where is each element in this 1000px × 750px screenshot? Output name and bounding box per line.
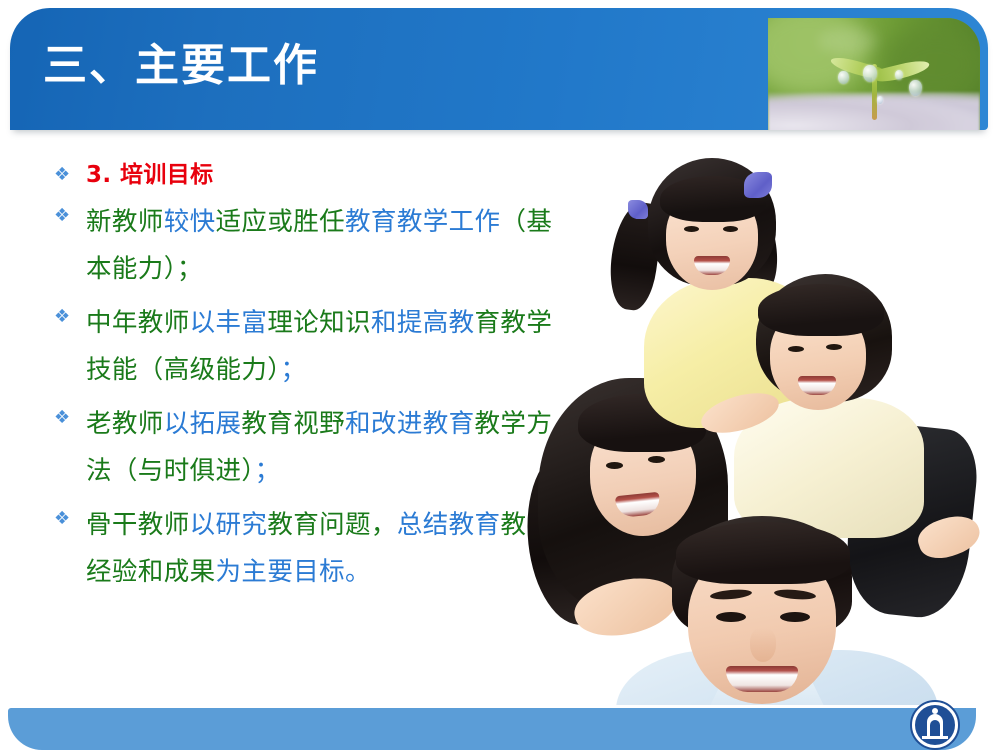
boy-eye-left <box>788 346 804 352</box>
bullet-text-segment: ； <box>255 456 281 486</box>
bullet-item: ❖中年教师以丰富理论知识和提高教育教学技能（高级能力）； <box>54 300 554 394</box>
bullet-text-segment: 3. 培训目标 <box>86 162 214 188</box>
bullet-diamond-icon: ❖ <box>54 401 86 427</box>
bullet-text-segment: 为主要目标。 <box>216 557 371 587</box>
bullet-text-segment: 骨干教师 <box>86 510 190 540</box>
dew-drop <box>909 80 922 96</box>
bullet-text: 3. 培训目标 <box>86 158 554 192</box>
woman-eye-right <box>648 456 665 463</box>
bullet-diamond-icon: ❖ <box>54 158 86 184</box>
logo-base-bar <box>922 736 948 739</box>
girl-eye-left <box>684 226 699 232</box>
page-title: 三、主要工作 <box>43 44 319 88</box>
bullet-text: 骨干教师以研究教育问题，总结教育教学经验和成果为主要目标。 <box>86 502 554 596</box>
bullet-text-segment: 教育问题， <box>267 510 397 540</box>
bullet-text-segment: 老教师 <box>86 409 164 439</box>
bullet-diamond-icon: ❖ <box>54 502 86 528</box>
bullet-item: ❖新教师较快适应或胜任教育教学工作（基本能力）； <box>54 199 554 293</box>
bullet-text: 中年教师以丰富理论知识和提高教育教学技能（高级能力）； <box>86 300 554 394</box>
bullet-item: ❖骨干教师以研究教育问题，总结教育教学经验和成果为主要目标。 <box>54 502 554 596</box>
dew-drop <box>877 96 883 104</box>
bullet-text-segment: 教育教学工作 <box>345 207 500 237</box>
man-eye-left <box>716 612 746 622</box>
bullet-text-segment: 理论知识 <box>267 308 371 338</box>
footer-bar <box>8 708 976 750</box>
bullet-text-segment: 以丰富 <box>190 308 268 338</box>
bullet-text: 老教师以拓展教育视野和改进教育教学方法（与时俱进）； <box>86 401 554 495</box>
bullet-text-segment: 教育视野 <box>241 409 345 439</box>
bullet-text-segment: 以拓展 <box>164 409 242 439</box>
bullet-item: ❖3. 培训目标 <box>54 158 554 192</box>
man-mouth <box>726 666 798 692</box>
dew-drop <box>838 71 849 84</box>
dew-drop <box>863 65 877 82</box>
light-glint <box>818 28 878 54</box>
bullet-text-segment: 和改进教育 <box>345 409 475 439</box>
family-photo <box>520 150 990 705</box>
bullet-text: 新教师较快适应或胜任教育教学工作（基本能力）； <box>86 199 554 293</box>
boy-fringe <box>758 284 884 336</box>
girl-eye-right <box>723 226 738 232</box>
man-nose <box>750 628 776 662</box>
dew-drop <box>895 70 903 80</box>
bullet-text-segment: 和提高教 <box>371 308 475 338</box>
bullet-diamond-icon: ❖ <box>54 199 86 225</box>
bullet-text-segment: 总结教育 <box>397 510 501 540</box>
woman-eye-left <box>606 462 623 469</box>
man-fringe <box>676 522 850 584</box>
school-emblem-logo-icon <box>910 700 960 750</box>
sprout-photo <box>768 18 980 130</box>
bullet-text-segment: ； <box>280 355 306 385</box>
bullet-diamond-icon: ❖ <box>54 300 86 326</box>
header-banner: 三、主要工作 <box>10 8 988 130</box>
bullet-text-segment: 新教师 <box>86 207 164 237</box>
bullet-item: ❖老教师以拓展教育视野和改进教育教学方法（与时俱进）； <box>54 401 554 495</box>
bullet-text-segment: 中年教师 <box>86 308 190 338</box>
bullet-list: ❖3. 培训目标❖新教师较快适应或胜任教育教学工作（基本能力）；❖中年教师以丰富… <box>54 158 554 603</box>
girl-hair-bow-left <box>628 200 648 219</box>
boy-eye-right <box>826 344 842 350</box>
man-eye-right <box>780 612 810 622</box>
bullet-text-segment: 较快 <box>164 207 216 237</box>
girl-hair-bow-right <box>744 172 772 198</box>
bullet-text-segment: 以研究 <box>190 510 268 540</box>
bullet-text-segment: 适应或胜任 <box>216 207 346 237</box>
slide-canvas: 三、主要工作 ❖3. 培训目标❖新教师较快适应或胜任教育教学工作（基本能力）；❖… <box>0 0 1000 750</box>
